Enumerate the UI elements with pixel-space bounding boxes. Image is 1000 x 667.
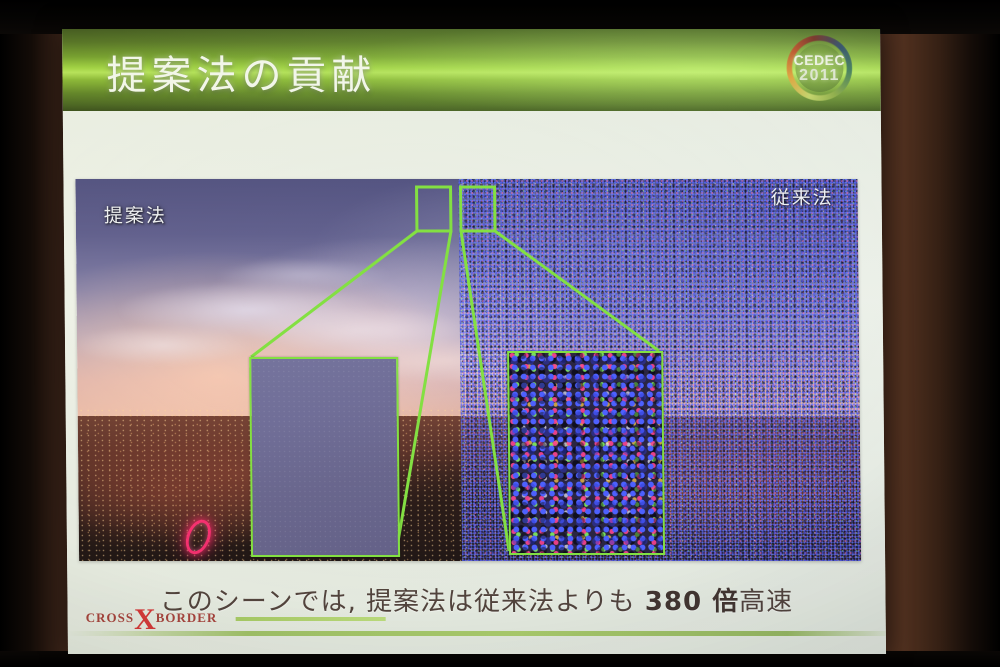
zoom-inset-noise-layer-2 (507, 351, 665, 555)
crossborder-logo-part1: CROSS (86, 609, 135, 625)
footer-green-line (68, 631, 886, 636)
figure-label-proposed: 提案法 (104, 201, 167, 228)
caption-suffix: 高速 (739, 587, 793, 617)
footer-logo-rule (236, 617, 386, 621)
caption-prefix: このシーンでは, 提案法は従来法よりも (160, 587, 645, 617)
crossborder-logo-part2: BORDER (156, 609, 218, 625)
zoom-inset-proposed (249, 357, 400, 557)
cedec-logo-text: CEDEC (782, 52, 856, 68)
comparison-figure: 提案法 従来法 (75, 179, 861, 561)
screenshot-root: 提案法の貢献 CEDEC 2011 提案法 従来法 (0, 0, 1000, 667)
figure-label-conventional: 従来法 (770, 183, 833, 210)
caption-speedup-value: 380 倍 (645, 587, 740, 617)
cedec-logo: CEDEC 2011 (782, 31, 857, 105)
projected-slide: 提案法の貢献 CEDEC 2011 提案法 従来法 (62, 29, 886, 654)
crossborder-x-icon: X (134, 609, 156, 630)
page-title: 提案法の貢献 (106, 43, 377, 101)
title-banner: 提案法の貢献 (62, 29, 881, 111)
zoom-inset-proposed-surface (251, 359, 398, 555)
slide-body: 提案法 従来法 (63, 111, 886, 654)
cedec-logo-year: 2011 (782, 67, 856, 85)
zoom-inset-conventional (507, 351, 665, 555)
crossborder-logo: CROSS X BORDER (86, 607, 218, 628)
